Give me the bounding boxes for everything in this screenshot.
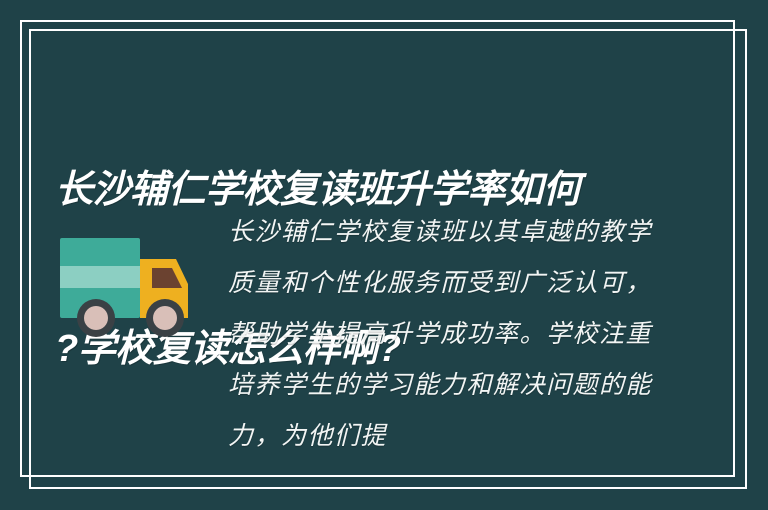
truck-front-wheel-hub	[153, 306, 177, 330]
truck-cargo-stripe	[60, 266, 140, 288]
article-body-paragraph: 长沙辅仁学校复读班以其卓越的教学质量和个性化服务而受到广泛认可，帮助学生提高升学…	[228, 206, 658, 461]
truck-rear-wheel-hub	[84, 306, 108, 330]
article-cover-card: 长沙辅仁学校复读班升学率如何 ?学校复读怎么样啊? 长沙辅仁学校复读班以其卓越的…	[0, 0, 768, 510]
delivery-truck-icon	[52, 218, 212, 346]
